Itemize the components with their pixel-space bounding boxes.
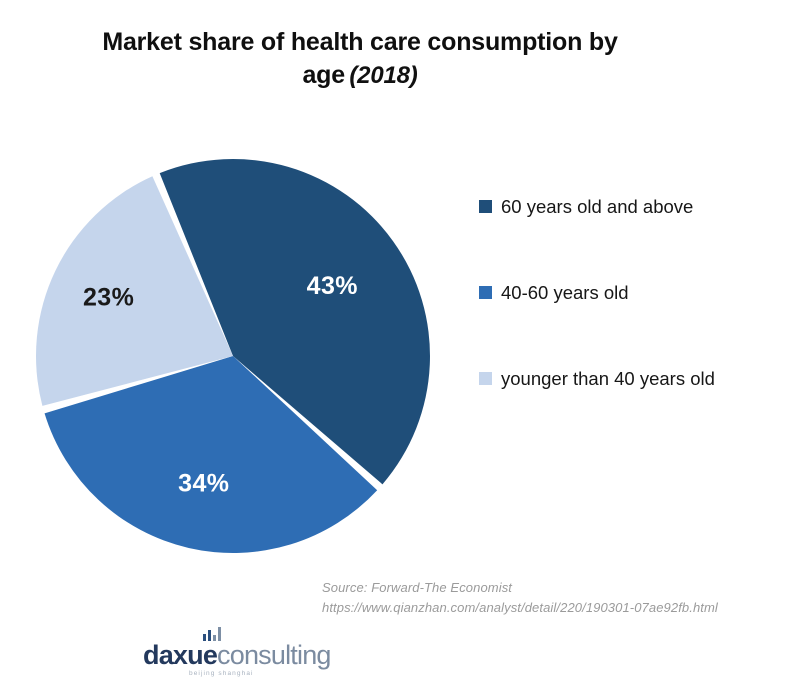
pie-slice-label: 23% (83, 283, 134, 311)
chart-canvas: Market share of health care consumption … (0, 0, 800, 682)
legend-item-40-60[interactable]: 40-60 years old (479, 281, 769, 306)
pie-chart: 43%34%23% (33, 156, 433, 556)
chart-title-second-line: age (302, 61, 344, 89)
legend-label: 40-60 years old (501, 281, 629, 306)
pie-slice-label: 43% (307, 272, 358, 300)
legend-swatch-icon (479, 372, 492, 385)
logo-tagline: beijing shanghai (189, 670, 254, 677)
source-line-2: https://www.qianzhan.com/analyst/detail/… (322, 598, 718, 618)
pie-chart-svg: 43%34%23% (33, 156, 433, 556)
bar-chart-icon (203, 626, 223, 641)
source-note: Source: Forward-The Economist https://ww… (322, 578, 718, 617)
source-line-1: Source: Forward-The Economist (322, 578, 718, 598)
legend-item-younger-than-40[interactable]: younger than 40 years old (479, 367, 769, 392)
daxue-consulting-logo: daxueconsulting beijing shanghai (143, 630, 343, 678)
chart-legend: 60 years old and above 40-60 years old y… (479, 195, 769, 453)
chart-title: Market share of health care consumption … (60, 26, 660, 92)
logo-name-light: consulting (217, 640, 331, 670)
legend-item-60-and-above[interactable]: 60 years old and above (479, 195, 769, 220)
chart-title-year: (2018) (349, 62, 417, 89)
legend-label: younger than 40 years old (501, 367, 715, 392)
legend-swatch-icon (479, 200, 492, 213)
logo-wordmark: daxueconsulting (143, 640, 331, 671)
chart-title-main: Market share of health care consumption … (102, 28, 617, 56)
pie-slice-label: 34% (178, 470, 229, 498)
logo-name-bold: daxue (143, 640, 217, 670)
legend-swatch-icon (479, 286, 492, 299)
legend-label: 60 years old and above (501, 195, 693, 220)
